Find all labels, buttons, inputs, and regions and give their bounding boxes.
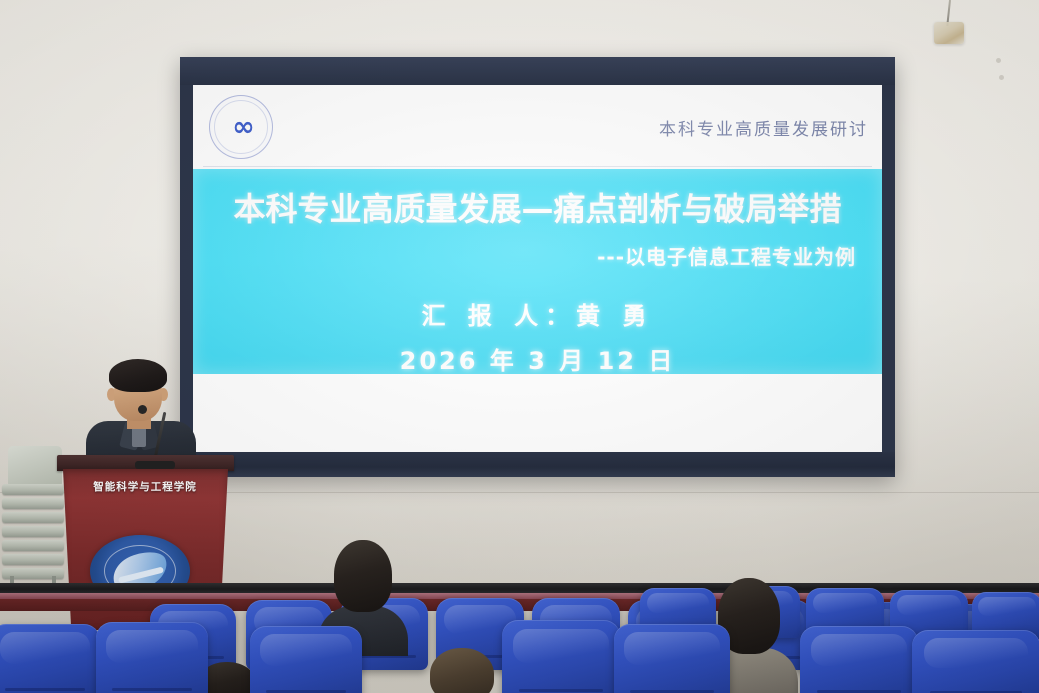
auditorium-seat-front (912, 630, 1039, 693)
wall-dot-b (999, 75, 1004, 80)
auditorium-seat-front (0, 624, 100, 693)
stacked-chair-seat (2, 498, 64, 509)
presentation-slide: ∞ 本科专业高质量发展研讨 本科专业高质量发展—痛点剖析与破局举措 ---以电子… (193, 85, 882, 452)
stacked-chair-back (8, 446, 62, 488)
slide-header-title: 本科专业高质量发展研讨 (659, 115, 868, 140)
slide-title-band: 本科专业高质量发展—痛点剖析与破局举措 ---以电子信息工程专业为例 汇 报 人… (193, 169, 882, 374)
slide-main-title: 本科专业高质量发展—痛点剖析与破局举措 (209, 184, 866, 230)
microphone-head (138, 405, 147, 414)
stacked-chair-seat (2, 484, 64, 495)
seat-crease (112, 688, 193, 691)
screen-bottom-bar (180, 452, 895, 477)
slide-sub-title: ---以电子信息工程专业为例 (209, 241, 866, 270)
auditorium-seat-front (96, 622, 208, 693)
projection-screen-frame: ∞ 本科专业高质量发展研讨 本科专业高质量发展—痛点剖析与破局举措 ---以电子… (180, 57, 895, 477)
stacked-chair-seat (2, 526, 64, 537)
auditorium-seat-front (250, 626, 362, 693)
presenter-hair (109, 359, 167, 392)
microphone-base (135, 461, 175, 469)
slide-date: 2026 年 3 月 12 日 (209, 341, 866, 376)
seal-emblem-mark: ∞ (232, 114, 250, 141)
audience-head (334, 540, 392, 612)
audience-head (430, 648, 494, 693)
slide-header: ∞ 本科专业高质量发展研讨 (193, 85, 882, 169)
stacked-chair-seat (2, 512, 64, 523)
ceiling-fixture (934, 22, 964, 44)
auditorium-seat-front (614, 624, 730, 693)
stacked-chair-seat (2, 540, 64, 551)
audience-person (424, 648, 510, 693)
seat-crease (519, 689, 604, 692)
screen-top-bar (180, 57, 895, 85)
projection-screen-surface: ∞ 本科专业高质量发展研讨 本科专业高质量发展—痛点剖析与破局举措 ---以电子… (193, 85, 882, 452)
slide-footer (193, 374, 882, 452)
auditorium-seat-front (502, 620, 620, 693)
university-seal-icon: ∞ (209, 95, 273, 159)
slide-presenter: 汇 报 人：黄 勇 (209, 296, 866, 331)
stacked-chair-seat (2, 554, 64, 565)
seat-crease (5, 688, 84, 691)
lecture-hall-photo: ∞ 本科专业高质量发展研讨 本科专业高质量发展—痛点剖析与破局举措 ---以电子… (0, 0, 1039, 693)
auditorium-seat-front (800, 626, 918, 693)
wall-dot-a (996, 58, 1001, 63)
bench-desk-edge-back (0, 583, 1039, 593)
podium-sign-text: 智能科学与工程学院 (65, 479, 225, 494)
seat-crease (630, 690, 714, 693)
